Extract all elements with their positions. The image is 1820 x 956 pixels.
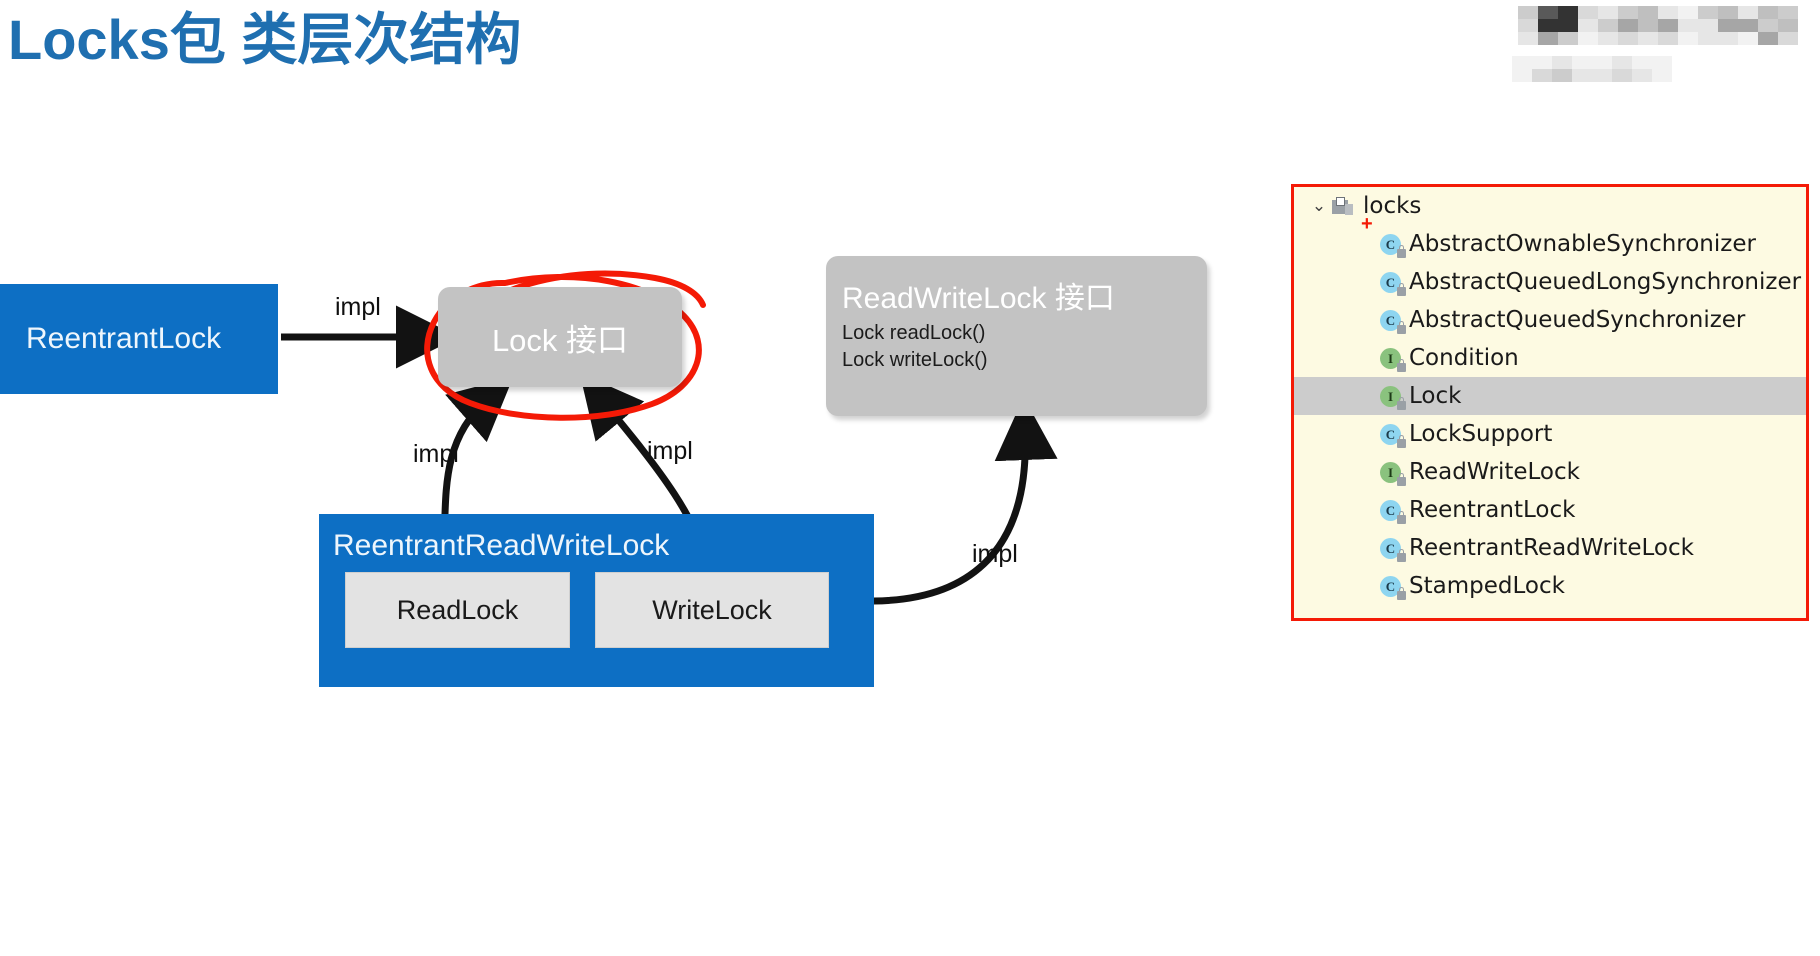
node-lock-interface-label: Lock 接口	[492, 315, 628, 360]
tree-item-abstractownablesynchronizer[interactable]: CAbstractOwnableSynchronizer	[1294, 225, 1806, 263]
mosaic-tile	[1658, 32, 1678, 45]
mosaic-tile	[1618, 32, 1638, 45]
mosaic-tile	[1618, 6, 1638, 19]
class-icon: C	[1380, 424, 1401, 445]
tree-item-condition[interactable]: ICondition	[1294, 339, 1806, 377]
tree-item-stampedlock[interactable]: CStampedLock	[1294, 567, 1806, 605]
class-icon: C	[1380, 234, 1401, 255]
class-icon: C	[1380, 500, 1401, 521]
package-tree-panel[interactable]: ⌄ locks + CAbstractOwnableSynchronizerCA…	[1291, 184, 1809, 621]
mosaic-tile	[1758, 32, 1778, 45]
node-reentrantlock: ReentrantLock	[0, 284, 278, 394]
tree-item-label: ReentrantLock	[1409, 497, 1575, 523]
mosaic-tile	[1738, 32, 1758, 45]
interface-icon: I	[1380, 348, 1401, 369]
node-readwritelock-method-read: Lock readLock()	[842, 320, 1207, 347]
mosaic-tile	[1632, 56, 1652, 69]
edge-rrwl-to-readwritelock	[874, 432, 1025, 601]
node-readwritelock-interface: ReadWriteLock 接口 Lock readLock() Lock wr…	[826, 256, 1207, 416]
node-writelock: WriteLock	[595, 572, 829, 648]
interface-icon: I	[1380, 386, 1401, 407]
tree-item-label: AbstractQueuedLongSynchronizer	[1409, 269, 1801, 295]
tree-item-locksupport[interactable]: CLockSupport	[1294, 415, 1806, 453]
mosaic-tile	[1598, 6, 1618, 19]
mosaic-tile	[1512, 69, 1532, 82]
mosaic-tile	[1658, 6, 1678, 19]
mosaic-tile	[1758, 6, 1778, 19]
mosaic-tile	[1592, 69, 1612, 82]
mosaic-tile	[1652, 56, 1672, 69]
mosaic-tile	[1678, 6, 1698, 19]
tree-item-readwritelock[interactable]: IReadWriteLock	[1294, 453, 1806, 491]
mosaic-tile	[1578, 19, 1598, 32]
chevron-down-icon[interactable]: ⌄	[1306, 187, 1332, 225]
mosaic-tile	[1518, 19, 1538, 32]
mosaic-tile	[1638, 32, 1658, 45]
tree-item-label: LockSupport	[1409, 421, 1552, 447]
node-reentrantlock-label: ReentrantLock	[26, 322, 221, 356]
tree-item-label: Lock	[1409, 383, 1461, 409]
mosaic-tile	[1558, 6, 1578, 19]
mosaic-tile	[1698, 32, 1718, 45]
mosaic-tile	[1532, 69, 1552, 82]
edge-label-readlock-impl: impl	[413, 440, 459, 469]
mosaic-tile	[1718, 32, 1738, 45]
tree-item-reentrantlock[interactable]: CReentrantLock	[1294, 491, 1806, 529]
tree-item-label: Condition	[1409, 345, 1519, 371]
tree-item-label: AbstractQueuedSynchronizer	[1409, 307, 1745, 333]
mosaic-tile	[1738, 6, 1758, 19]
mosaic-tile	[1572, 56, 1592, 69]
tree-item-label: ReadWriteLock	[1409, 459, 1580, 485]
mosaic-tile	[1758, 19, 1778, 32]
edge-label-rrwl-impl: impl	[972, 540, 1018, 569]
mosaic-tile	[1558, 19, 1578, 32]
mosaic-tile	[1558, 32, 1578, 45]
mosaic-tile	[1612, 69, 1632, 82]
mosaic-tile	[1518, 32, 1538, 45]
tree-item-abstractqueuedsynchronizer[interactable]: CAbstractQueuedSynchronizer	[1294, 301, 1806, 339]
mosaic-tile	[1598, 32, 1618, 45]
class-icon: C	[1380, 538, 1401, 559]
node-lock-interface: Lock 接口	[438, 287, 682, 387]
node-readlock: ReadLock	[345, 572, 570, 648]
page-title: Locks包 类层次结构	[8, 2, 521, 78]
edge-label-reentrantlock-impl: impl	[335, 293, 381, 322]
package-icon	[1332, 197, 1354, 216]
mosaic-tile	[1718, 6, 1738, 19]
tree-item-abstractqueuedlongsynchronizer[interactable]: CAbstractQueuedLongSynchronizer	[1294, 263, 1806, 301]
tree-item-lock[interactable]: ILock	[1294, 377, 1806, 415]
mosaic-tile	[1578, 32, 1598, 45]
mosaic-tile	[1538, 19, 1558, 32]
mosaic-tile	[1578, 6, 1598, 19]
tree-item-label: AbstractOwnableSynchronizer	[1409, 231, 1756, 257]
edge-label-writelock-impl: impl	[647, 437, 693, 466]
mosaic-tile	[1538, 32, 1558, 45]
mosaic-tile	[1592, 56, 1612, 69]
mosaic-tile	[1718, 19, 1738, 32]
mosaic-tile	[1638, 6, 1658, 19]
interface-icon: I	[1380, 462, 1401, 483]
mosaic-tile	[1612, 56, 1632, 69]
mosaic-tile	[1572, 69, 1592, 82]
node-writelock-label: WriteLock	[652, 595, 772, 626]
mosaic-tile	[1598, 19, 1618, 32]
node-readwritelock-method-write: Lock writeLock()	[842, 347, 1207, 374]
mosaic-tile	[1778, 6, 1798, 19]
mosaic-tile	[1638, 19, 1658, 32]
class-icon: C	[1380, 310, 1401, 331]
mosaic-tile	[1518, 6, 1538, 19]
mosaic-tile	[1698, 19, 1718, 32]
mosaic-tile	[1678, 32, 1698, 45]
mosaic-tile	[1778, 19, 1798, 32]
mosaic-tile	[1552, 56, 1572, 69]
mosaic-tile	[1738, 19, 1758, 32]
class-icon: C	[1380, 272, 1401, 293]
mosaic-tile	[1538, 6, 1558, 19]
node-reentrantreadwritelock-title: ReentrantReadWriteLock	[333, 524, 874, 568]
mosaic-tile	[1618, 19, 1638, 32]
mosaic-tile	[1532, 56, 1552, 69]
mosaic-tile	[1652, 69, 1672, 82]
mosaic-tile	[1658, 19, 1678, 32]
tree-item-label: ReentrantReadWriteLock	[1409, 535, 1694, 561]
tree-item-reentrantreadwritelock[interactable]: CReentrantReadWriteLock	[1294, 529, 1806, 567]
mosaic-tile	[1698, 6, 1718, 19]
mosaic-tile	[1552, 69, 1572, 82]
mosaic-tile	[1778, 32, 1798, 45]
tree-item-label: StampedLock	[1409, 573, 1565, 599]
node-readlock-label: ReadLock	[397, 595, 519, 626]
node-readwritelock-title: ReadWriteLock 接口	[842, 278, 1207, 320]
mosaic-tile	[1632, 69, 1652, 82]
redacted-mosaic-block	[1512, 4, 1802, 80]
mosaic-tile	[1678, 19, 1698, 32]
mosaic-tile	[1512, 56, 1532, 69]
class-icon: C	[1380, 576, 1401, 597]
